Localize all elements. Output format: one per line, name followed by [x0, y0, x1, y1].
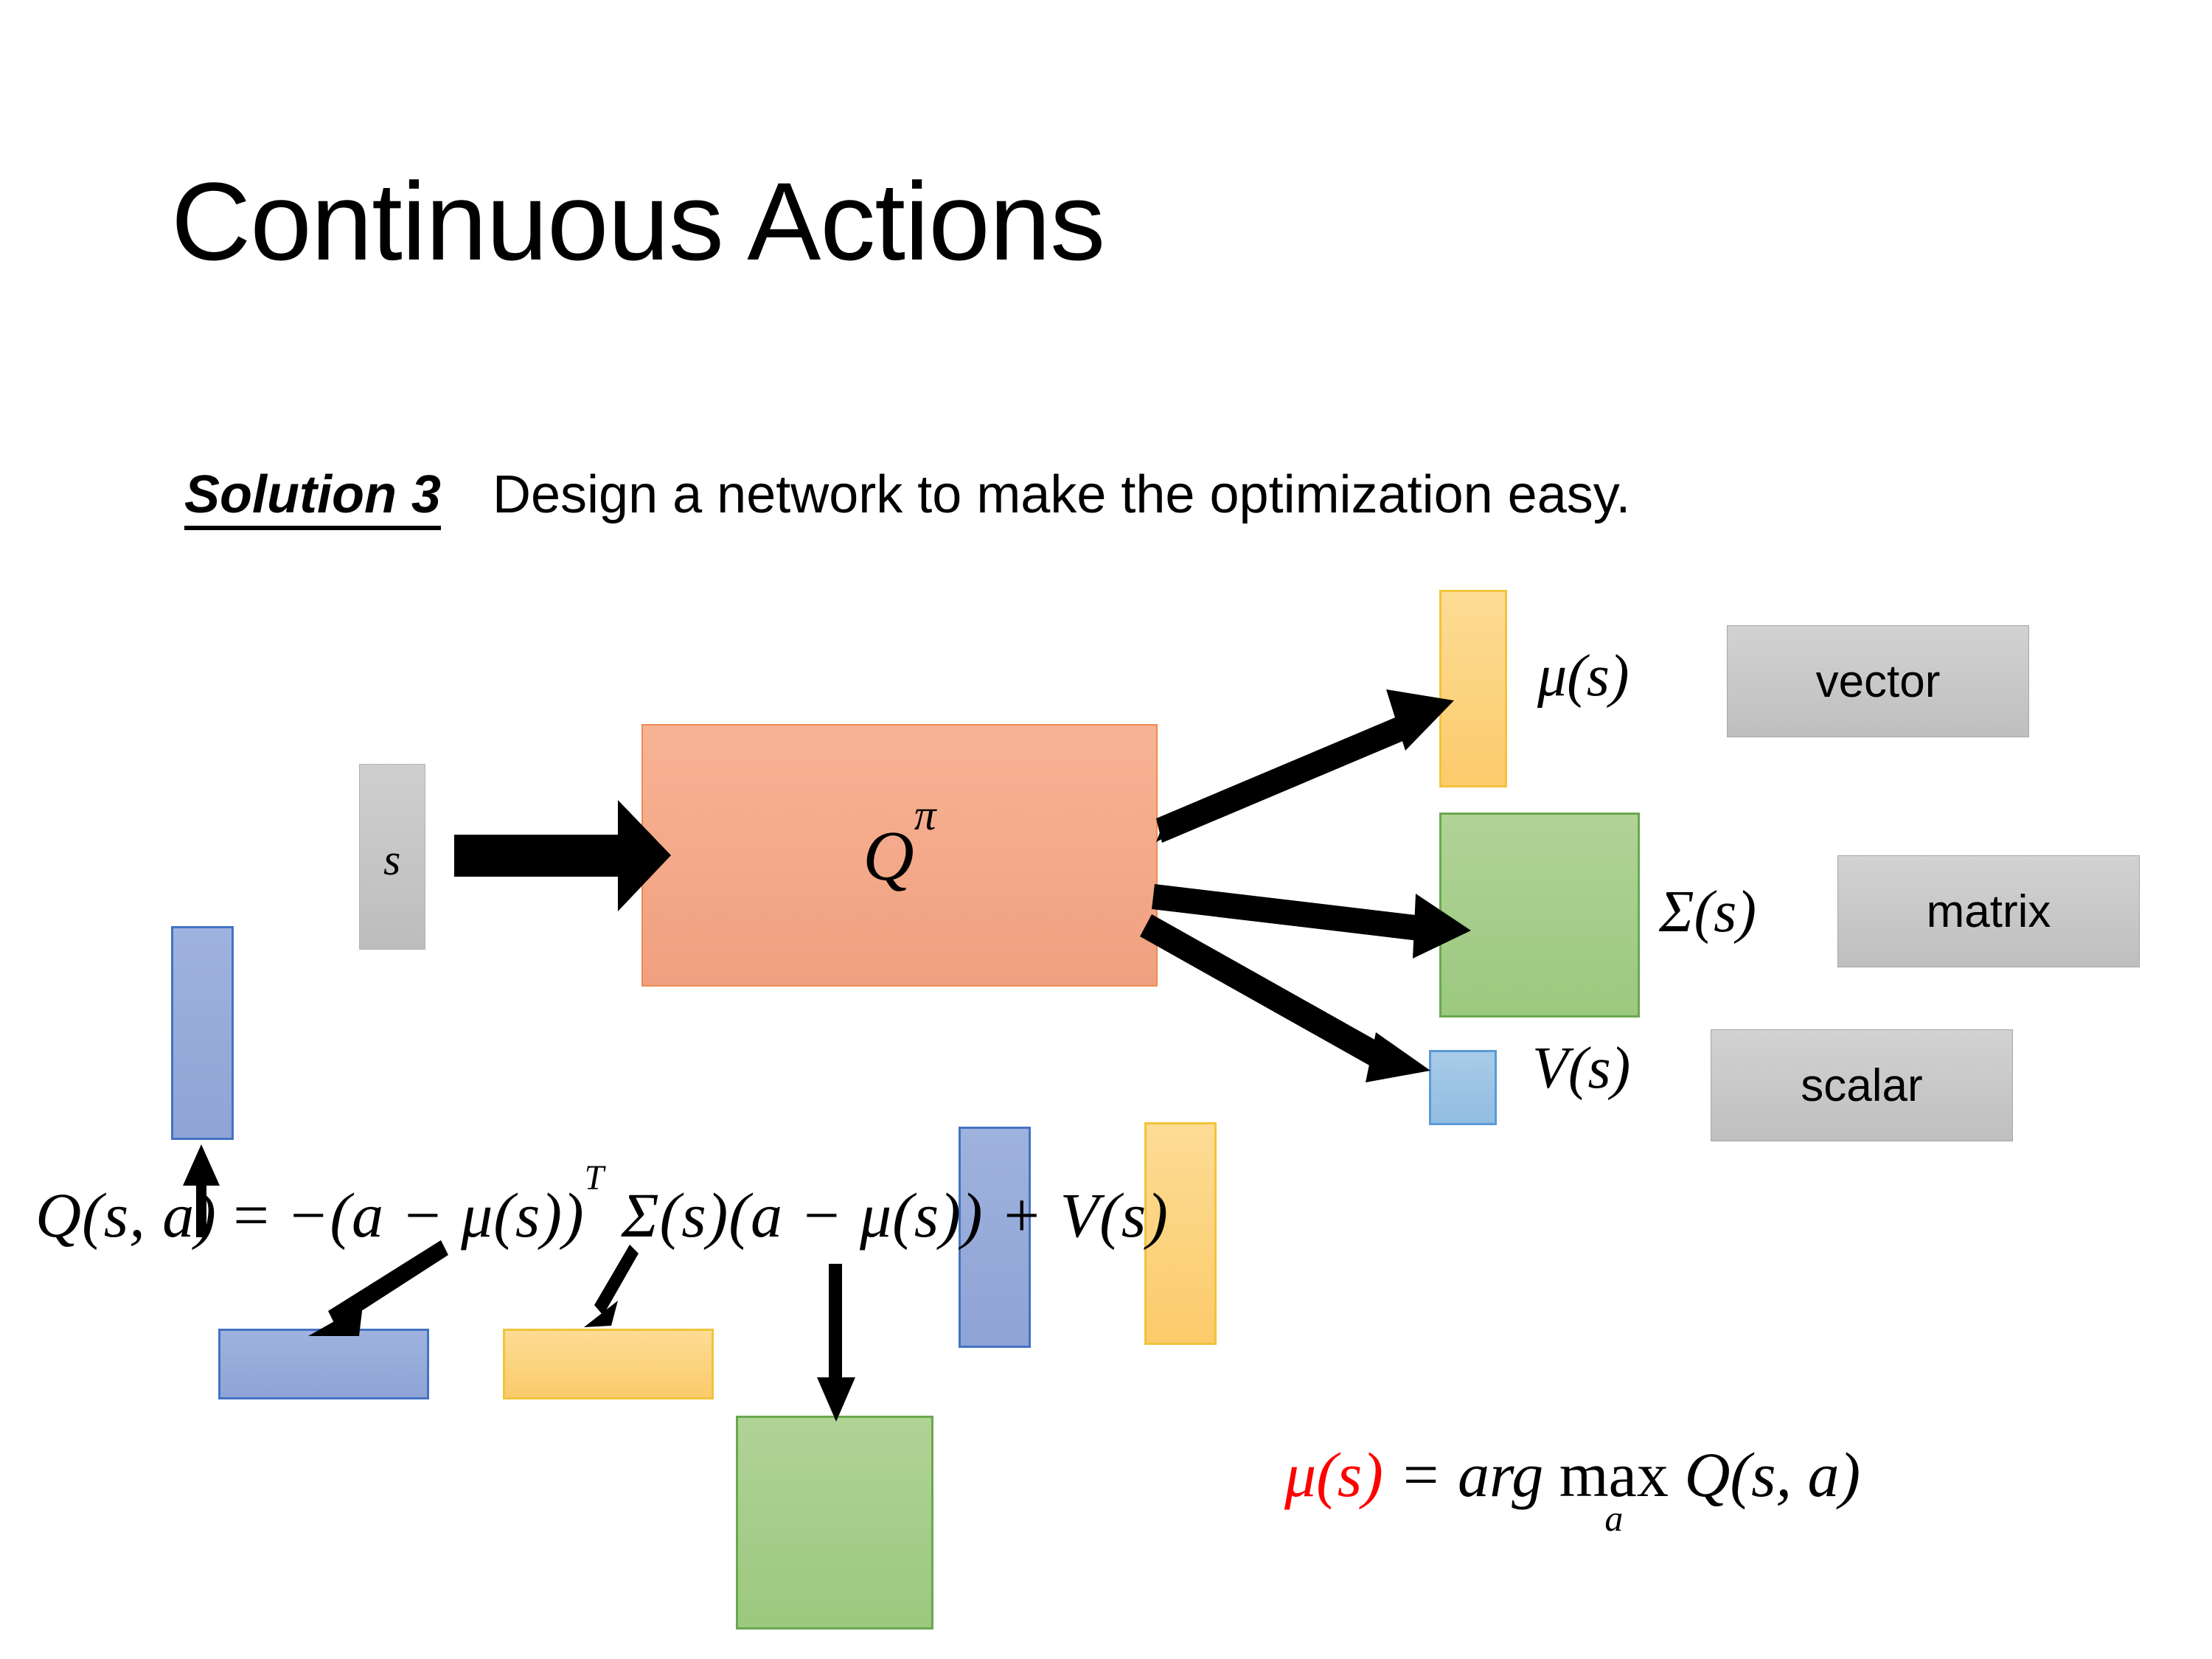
output-mu-type-badge: vector: [1727, 625, 2029, 737]
network-qpi-symbol: Qπ: [863, 815, 936, 897]
argmax-max-operator: maxa: [1559, 1445, 1669, 1536]
argmax-max-subscript: a: [1604, 1501, 1623, 1536]
network-qpi-box: Qπ: [641, 724, 1158, 987]
output-v-type-badge: scalar: [1711, 1029, 2013, 1141]
output-v-label: V(s): [1532, 1035, 1630, 1102]
output-sigma-label: Σ(s): [1659, 879, 1756, 946]
main-eq-rhs-tail: + V(s): [1000, 1180, 1169, 1251]
main-eq-rhs-prefix: −(a − μ(s)): [286, 1180, 584, 1251]
callout-action-wide-box: [218, 1329, 429, 1399]
subtitle-text: Design a network to make the optimizatio…: [493, 465, 1630, 525]
main-eq-lhs: Q(s, a): [35, 1180, 217, 1251]
output-sigma-type-badge: matrix: [1837, 855, 2140, 967]
input-state-label: s: [383, 835, 400, 886]
arrow-to-action-wide-icon: [308, 1240, 448, 1336]
callout-mean-wide-box: [503, 1329, 714, 1399]
arrow-q-to-v-icon: [1140, 914, 1430, 1082]
argmax-rhs: Q(s, a): [1684, 1439, 1860, 1510]
main-eq-transpose: T: [585, 1159, 605, 1197]
input-arrow-icon: [454, 800, 671, 911]
output-mu-vector-box: [1439, 590, 1507, 787]
argmax-lhs: μ(s): [1284, 1439, 1383, 1510]
subtitle-row: Solution 3 Design a network to make the …: [184, 465, 1630, 525]
argmax-equals: =: [1399, 1439, 1441, 1510]
output-sigma-matrix-box: [1439, 813, 1640, 1018]
slide-canvas: Continuous Actions Solution 3 Design a n…: [0, 0, 2212, 1659]
output-v-scalar-box: [1429, 1050, 1497, 1125]
arrow-to-covariance-icon: [817, 1264, 855, 1422]
page-title: Continuous Actions: [171, 164, 1105, 280]
main-eq-equals: =: [233, 1180, 270, 1251]
argmax-max-label: max: [1559, 1445, 1669, 1506]
callout-action-vector-tall-box: [171, 926, 234, 1140]
callout-covariance-square-box: [736, 1416, 933, 1630]
arrow-to-mean-wide-icon: [584, 1245, 639, 1327]
argmax-equation: μ(s) = arg maxa Q(s, a): [1284, 1438, 1860, 1536]
argmax-arg: arg: [1458, 1439, 1543, 1510]
arrow-q-to-sigma-icon: [1152, 884, 1471, 959]
main-equation: Q(s, a) = −(a − μ(s))T Σ(s)(a − μ(s)) + …: [35, 1178, 1169, 1252]
output-mu-label: μ(s): [1537, 643, 1630, 710]
solution-tag: Solution 3: [184, 465, 441, 525]
main-eq-rhs-mid: Σ(s)(a − μ(s)): [621, 1180, 983, 1251]
arrow-q-to-mu-icon: [1156, 689, 1454, 843]
